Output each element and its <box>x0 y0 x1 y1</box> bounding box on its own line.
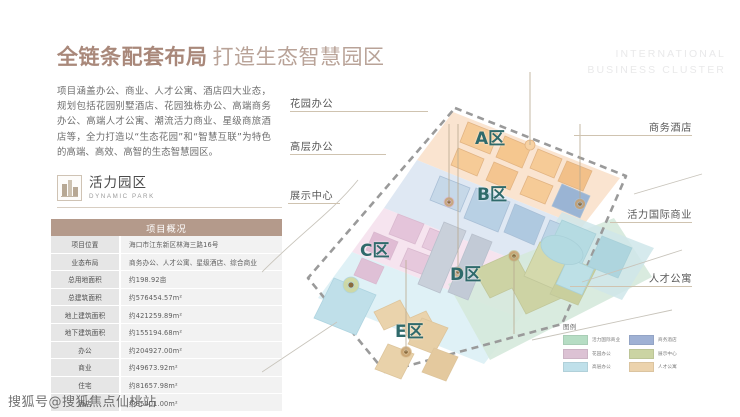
row-value: 约204927.00m² <box>120 341 282 359</box>
legend-grid: 活力国际商业 商务酒店 花园办公 展示中心 高层办公 人才公寓 <box>563 335 691 372</box>
callout-high-rise-office: 高层办公 <box>290 138 333 153</box>
site-watermark-text: 搜狐号@搜狐焦点仙桃站 <box>8 391 157 410</box>
table-title: 项目概况 <box>51 219 282 236</box>
table-row: 商业约49673.92m² <box>51 359 282 377</box>
legend-title: 图例 <box>563 322 691 331</box>
table-row: 地上建筑面积约421259.89m² <box>51 306 282 324</box>
callout-business-hotel: 商务酒店 <box>649 119 692 134</box>
callout-vitality-international-commerce: 活力国际商业 <box>627 206 692 221</box>
legend-label: 花园办公 <box>592 351 611 357</box>
site-watermark: 搜狐号@搜狐焦点仙桃站 <box>8 391 157 410</box>
zone-label-c: C区 <box>360 236 389 261</box>
brand-logo: 活力园区 DYNAMIC PARK <box>57 175 155 201</box>
legend-swatch <box>629 335 654 345</box>
legend-item-talent-apartment: 人才公寓 <box>629 362 691 372</box>
slide-root: INTERNATIONAL BUSINESS CLUSTER 全链条配套布局打造… <box>0 0 740 417</box>
page-title-light: 打造生态智慧园区 <box>213 45 385 69</box>
table-body: 项目位置海口市江东新区林海三路16号 业态布局商务办公、人才公寓、星级酒店、综合… <box>51 236 282 411</box>
row-key: 项目位置 <box>51 236 120 253</box>
page-title-bold: 全链条配套布局 <box>57 45 208 69</box>
row-value: 约49673.92m² <box>120 359 282 377</box>
legend-swatch <box>563 362 588 372</box>
intro-paragraph: 项目涵盖办公、商业、人才公寓、酒店四大业态，规划包括花园别墅酒店、花园独栋办公、… <box>57 84 271 160</box>
table-row: 总用地面积约198.92亩 <box>51 271 282 289</box>
zone-label-b: B区 <box>477 180 507 205</box>
zone-label-e: E区 <box>395 317 424 342</box>
project-overview-table: 项目概况 项目位置海口市江东新区林海三路16号 业态布局商务办公、人才公寓、星级… <box>51 219 282 412</box>
legend-label: 人才公寓 <box>658 364 677 370</box>
table-header-row: 项目概况 <box>51 219 282 236</box>
row-key: 商业 <box>51 359 120 377</box>
brand-name-en: DYNAMIC PARK <box>89 193 155 200</box>
legend-label: 展示中心 <box>658 351 677 357</box>
callout-exhibition-center: 展示中心 <box>290 187 333 202</box>
table-row: 总建筑面积约576454.57m² <box>51 288 282 306</box>
row-key: 地下建筑面积 <box>51 323 120 341</box>
legend-item-business-hotel: 商务酒店 <box>629 335 691 345</box>
row-value: 约576454.57m² <box>120 288 282 306</box>
row-value: 商务办公、人才公寓、星级酒店、综合商业 <box>120 253 282 271</box>
legend-swatch <box>563 349 588 359</box>
legend-label: 商务酒店 <box>658 337 677 343</box>
page-title: 全链条配套布局打造生态智慧园区 <box>57 44 282 70</box>
legend-swatch <box>629 362 654 372</box>
row-value: 海口市江东新区林海三路16号 <box>120 236 282 253</box>
callout-talent-apartment: 人才公寓 <box>649 270 692 285</box>
row-key: 地上建筑面积 <box>51 306 120 324</box>
brand-name-cn: 活力园区 <box>89 176 155 190</box>
legend-item-high-rise-office: 高层办公 <box>563 362 625 372</box>
callout-rule-high-rise-office <box>290 154 386 155</box>
callout-rule-business-hotel <box>574 135 692 136</box>
callout-garden-office: 花园办公 <box>290 95 333 110</box>
row-key: 办公 <box>51 341 120 359</box>
callout-rule-garden-office <box>290 111 428 112</box>
row-key: 业态布局 <box>51 253 120 271</box>
legend-item-vitality-commerce: 活力国际商业 <box>563 335 625 345</box>
table-row: 项目位置海口市江东新区林海三路16号 <box>51 236 282 253</box>
map-legend: 图例 活力国际商业 商务酒店 花园办公 展示中心 高层办公 <box>563 322 691 372</box>
table-row: 地下建筑面积约155194.68m² <box>51 323 282 341</box>
table-row: 业态布局商务办公、人才公寓、星级酒店、综合商业 <box>51 253 282 271</box>
row-value: 约155194.68m² <box>120 323 282 341</box>
building-icon <box>57 175 82 201</box>
row-value: 约198.92亩 <box>120 271 282 289</box>
brand-logo-text: 活力园区 DYNAMIC PARK <box>89 176 155 200</box>
legend-item-exhibition-center: 展示中心 <box>629 349 691 359</box>
watermark-line-1: INTERNATIONAL <box>587 46 726 62</box>
legend-item-garden-office: 花园办公 <box>563 349 625 359</box>
logo-divider <box>57 207 282 208</box>
left-column: 全链条配套布局打造生态智慧园区 项目涵盖办公、商业、人才公寓、酒店四大业态，规划… <box>57 44 282 160</box>
table-row: 办公约204927.00m² <box>51 341 282 359</box>
row-value: 约421259.89m² <box>120 306 282 324</box>
row-key: 总建筑面积 <box>51 288 120 306</box>
legend-swatch <box>629 349 654 359</box>
callout-rule-vitality-commerce <box>610 222 692 223</box>
legend-label: 高层办公 <box>592 364 611 370</box>
callout-rule-talent-apartment <box>570 286 692 287</box>
callout-rule-exhibition-center <box>288 203 340 204</box>
zone-label-d: D区 <box>450 260 481 285</box>
legend-label: 活力国际商业 <box>592 337 620 343</box>
zone-label-a: A区 <box>475 124 505 149</box>
legend-swatch <box>563 335 588 345</box>
row-key: 总用地面积 <box>51 271 120 289</box>
